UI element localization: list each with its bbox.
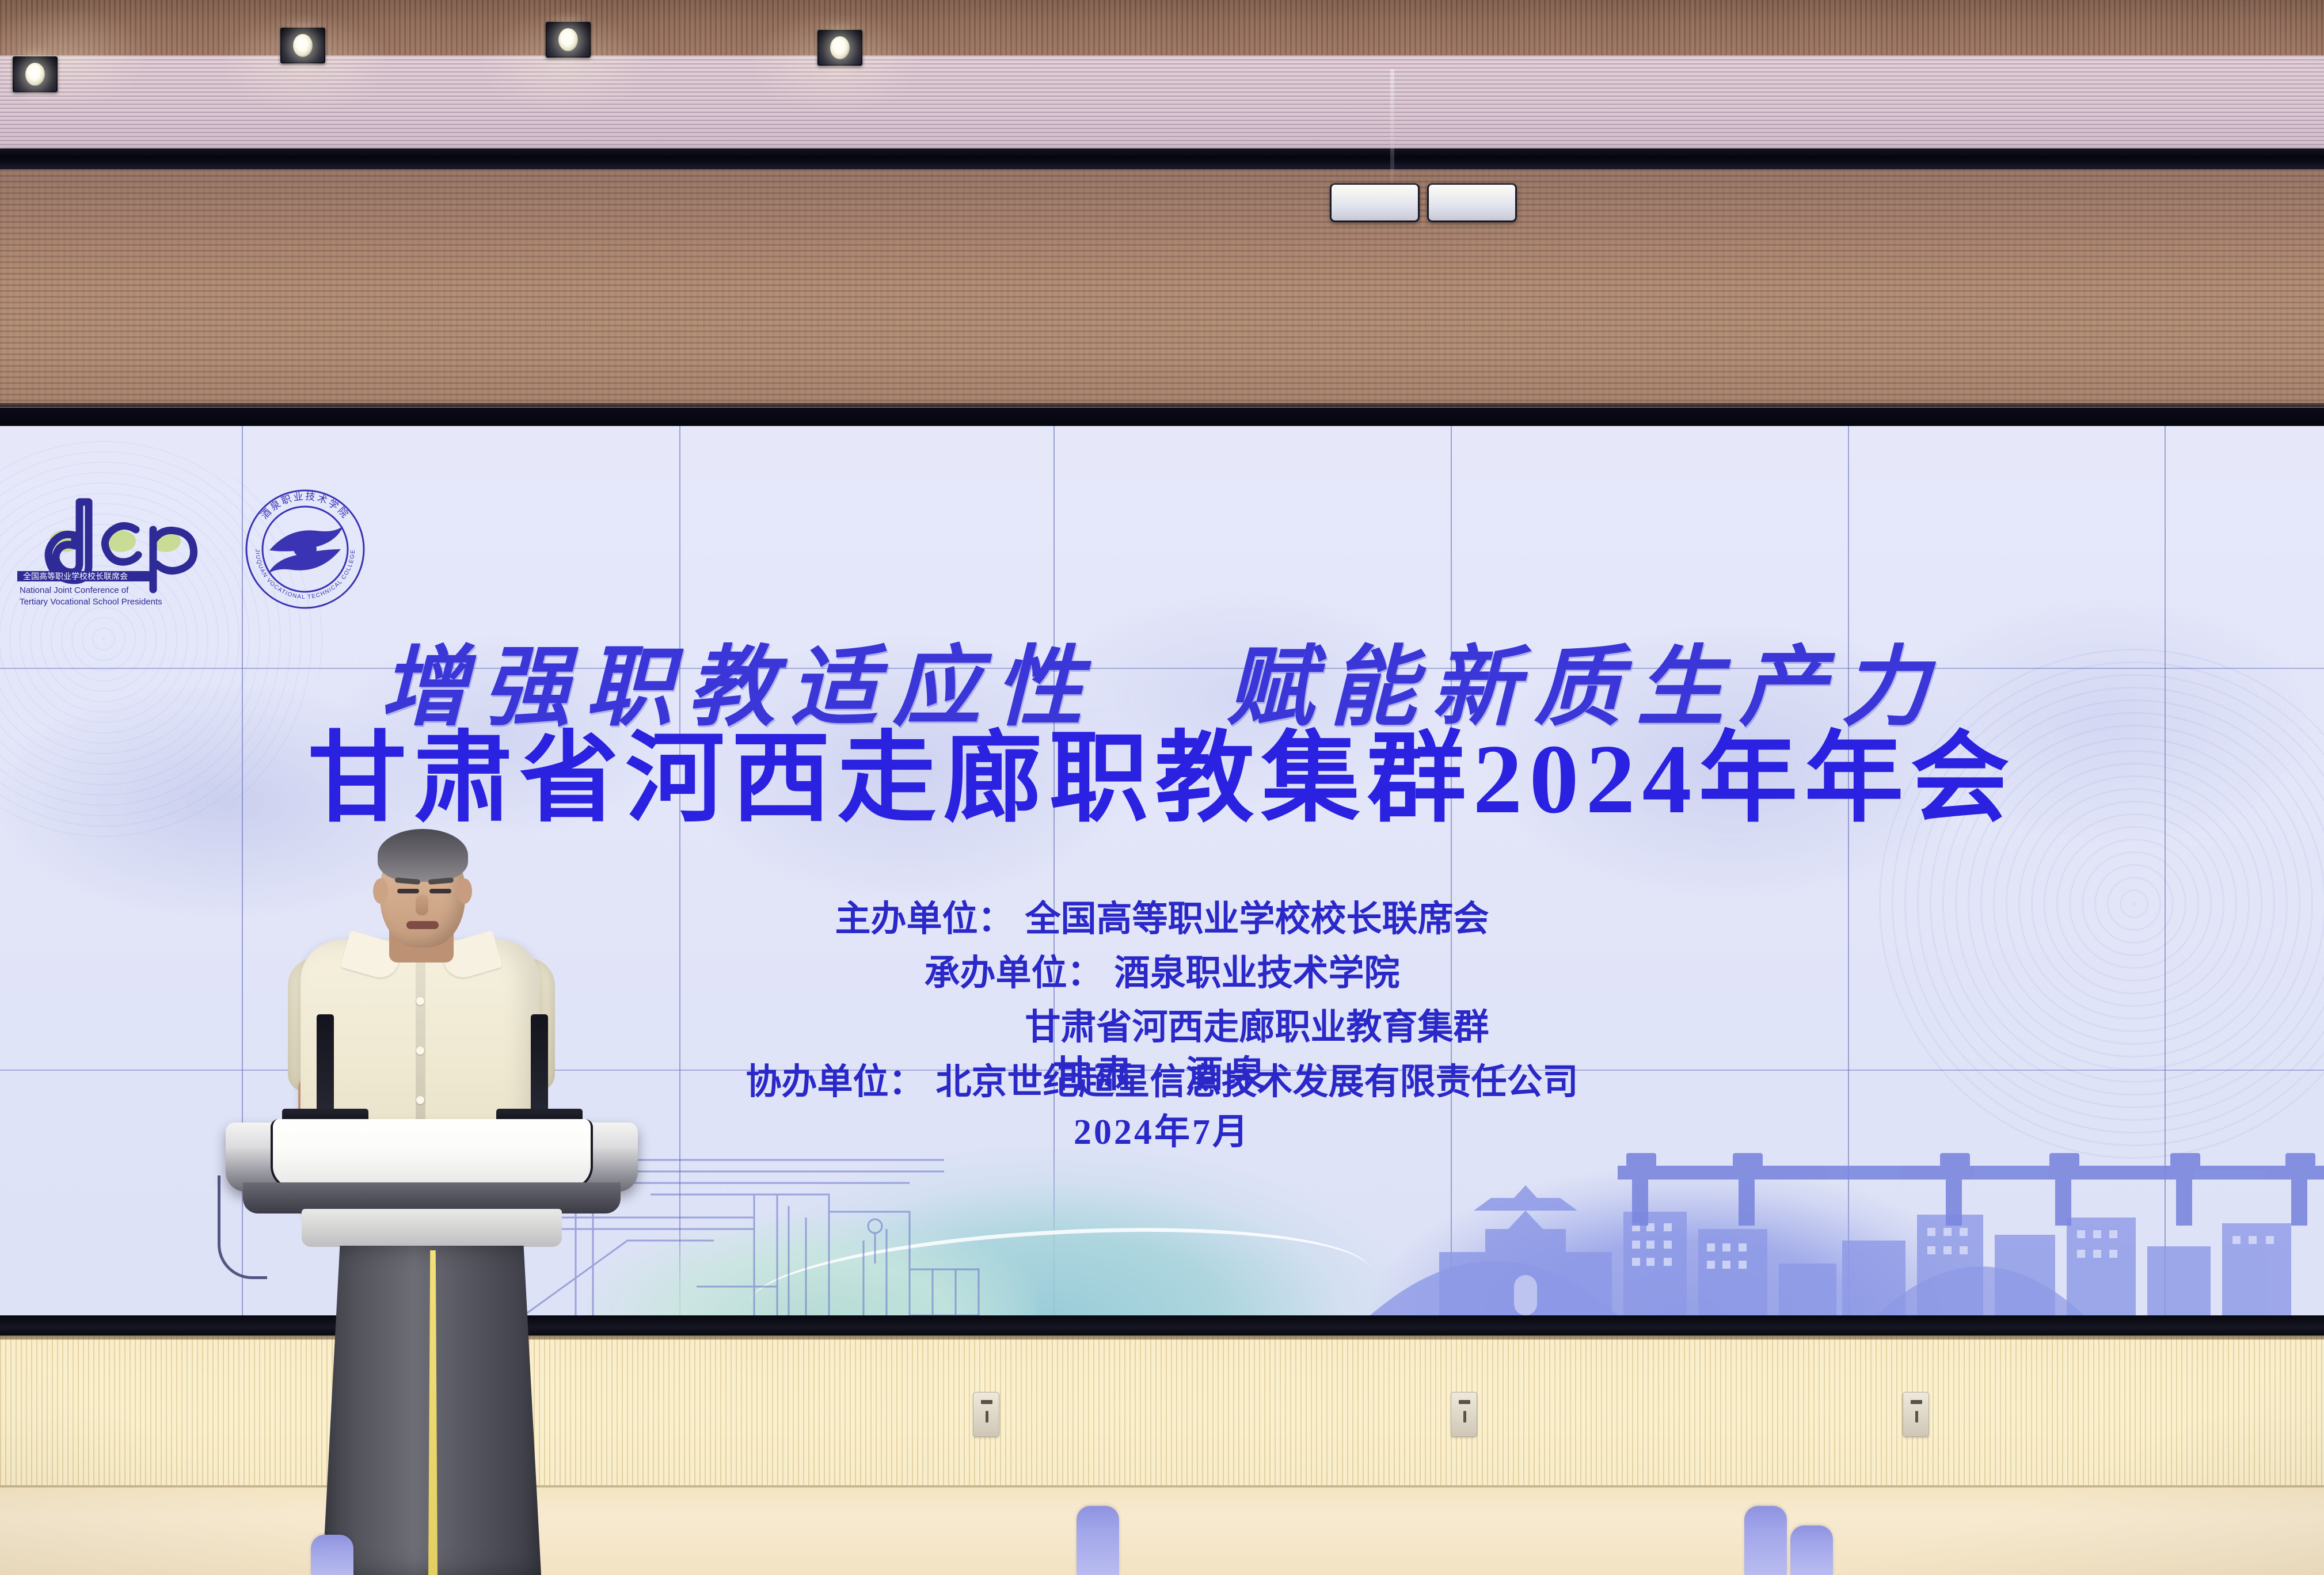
led-top-bezel	[0, 408, 2324, 426]
organizer-label: 主办单位：	[835, 892, 1025, 946]
speaker-eye-right	[429, 889, 451, 893]
ceiling-spotlight-icon	[13, 56, 58, 92]
podium-front-panel	[271, 1119, 593, 1189]
college-emblem-icon: 酒泉职业技术学院 JIUQUAN VOCATIONAL TECHNICAL CO…	[244, 488, 366, 610]
speaker-ear-right	[457, 878, 472, 904]
ceiling-air-vent	[1330, 183, 1517, 222]
shirt-button	[416, 997, 424, 1005]
ceiling-ribbed-panel	[0, 55, 2324, 157]
speaker-nose	[416, 895, 428, 915]
audience-chair-top	[311, 1535, 353, 1575]
ceiling-beam	[0, 149, 2324, 169]
jcp-logo: 全国高等职业学校校长联席会 National Joint Conference …	[12, 492, 219, 607]
podium	[226, 1123, 638, 1575]
ceiling-soffit-line	[0, 403, 2324, 407]
screen-title: 甘肃省河西走廊职教集群2024年年会	[308, 730, 2017, 829]
speaker-mouth	[406, 921, 439, 929]
logo-row: 全国高等职业学校校长联席会 National Joint Conference …	[12, 488, 366, 610]
speaker-hair	[378, 829, 468, 882]
shirt-button	[416, 1096, 424, 1104]
wall-outlet-icon	[973, 1392, 999, 1437]
organizer-value: 酒泉职业技术学院	[1114, 946, 1399, 1000]
speaker-eye-left	[397, 889, 419, 893]
wall-outlet-icon	[1903, 1392, 1929, 1437]
jcp-english-line2: Tertiary Vocational School Presidents	[20, 597, 162, 607]
headline-right: 赋能新质生产力	[1227, 640, 1944, 736]
screen-headline: 增强职教适应性 赋能新质生产力	[0, 616, 2324, 743]
ceiling-spotlight-icon	[280, 28, 325, 63]
vent-louver	[1427, 183, 1517, 222]
podium-neck	[302, 1209, 562, 1247]
audience-chair-top	[1790, 1525, 1833, 1575]
ceiling-wood-strip	[0, 0, 2324, 55]
speaker-ear-left	[373, 878, 388, 904]
ceiling-spotlight-icon	[546, 22, 591, 58]
ceiling-wood-overlay	[0, 169, 2324, 413]
jcp-chinese-name: 全国高等职业学校校长联席会	[23, 572, 128, 581]
vent-louver	[1330, 183, 1420, 222]
headline-left: 增强职教适应性	[381, 640, 1098, 736]
jcp-wordmark-icon: 全国高等职业学校校长联席会 National Joint Conference …	[12, 492, 219, 607]
jcp-english-line1: National Joint Conference of	[20, 585, 129, 595]
shirt-button	[416, 1047, 424, 1055]
wall-outlet-icon	[1451, 1392, 1477, 1437]
audience-chair-top	[1077, 1506, 1119, 1575]
ceiling-spotlight-icon	[817, 30, 862, 66]
city-skyline-icon	[1370, 1143, 2324, 1315]
audience-chair-top	[1744, 1506, 1787, 1575]
conference-stage-scene: 全国高等职业学校校长联席会 National Joint Conference …	[0, 0, 2324, 1575]
organizer-value: 全国高等职业学校校长联席会	[1025, 892, 1489, 946]
vent-pipe	[1390, 69, 1394, 184]
organizer-label: 承办单位：	[924, 946, 1114, 1000]
